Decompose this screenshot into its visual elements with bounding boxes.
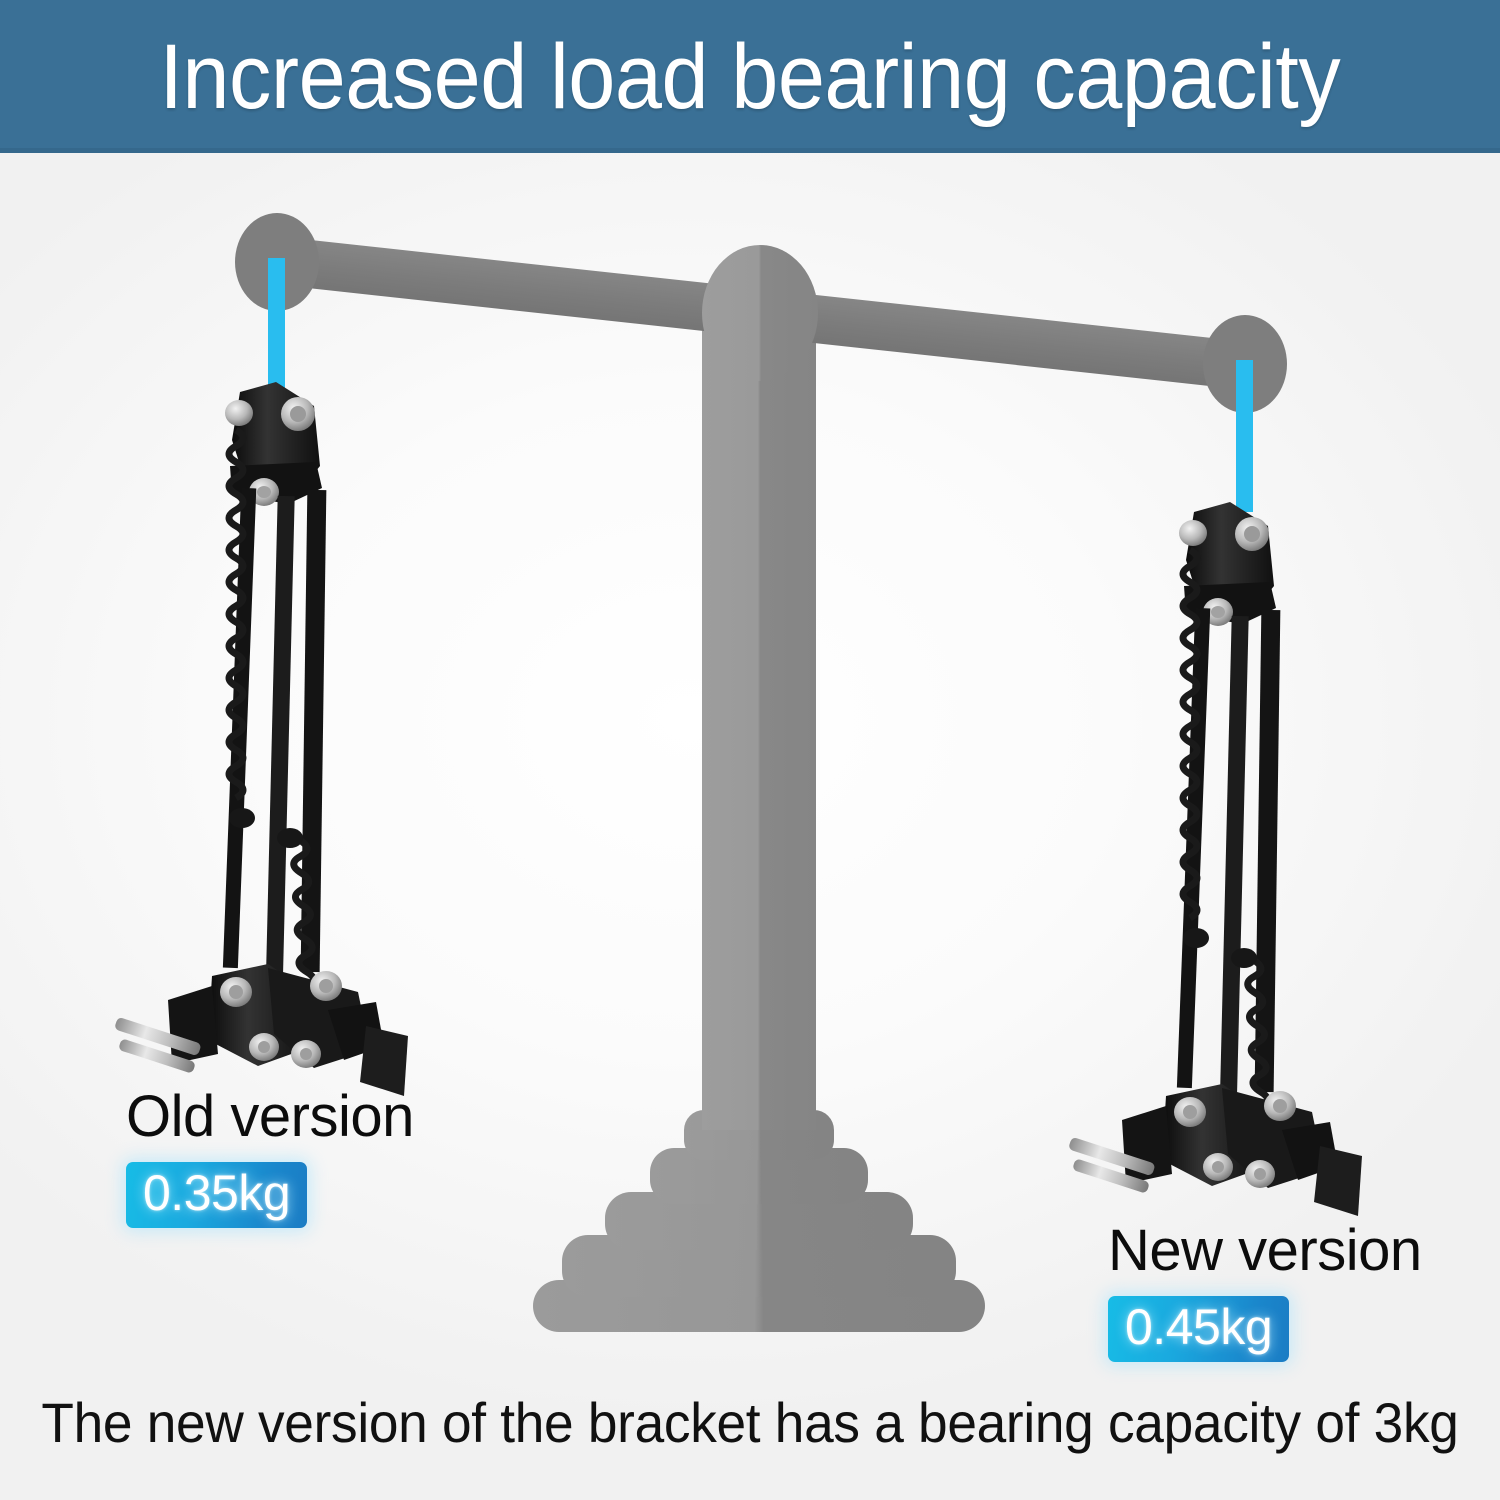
version-name-old: Old version [126,1088,414,1146]
product-label-new: New version 0.45kg [1108,1222,1422,1362]
arm-bottom-hinge [1068,1084,1362,1216]
spring-anchor-lower [1231,948,1257,968]
banner-underline [0,148,1500,153]
weight-badge-wrap-old: 0.35kg [126,1146,414,1228]
banner-title: Increased load bearing capacity [160,31,1341,123]
product-label-old: Old version 0.35kg [126,1088,414,1228]
infographic-page: Increased load bearing capacity [0,0,1500,1500]
weight-badge-new: 0.45kg [1108,1296,1289,1362]
spring-anchor-upper [229,808,255,828]
arm-bottom-hinge [114,964,408,1096]
footer-caption: The new version of the bracket has a bea… [38,1390,1463,1455]
boom-arm-old [108,370,438,1110]
boom-arm-new [1062,490,1392,1230]
version-name-new: New version [1108,1222,1422,1280]
spring-anchor-lower [277,828,303,848]
weight-badge-wrap-new: 0.45kg [1108,1280,1422,1362]
spring-anchor-upper [1183,928,1209,948]
header-banner: Increased load bearing capacity [0,0,1500,153]
weight-badge-old: 0.35kg [126,1162,307,1228]
